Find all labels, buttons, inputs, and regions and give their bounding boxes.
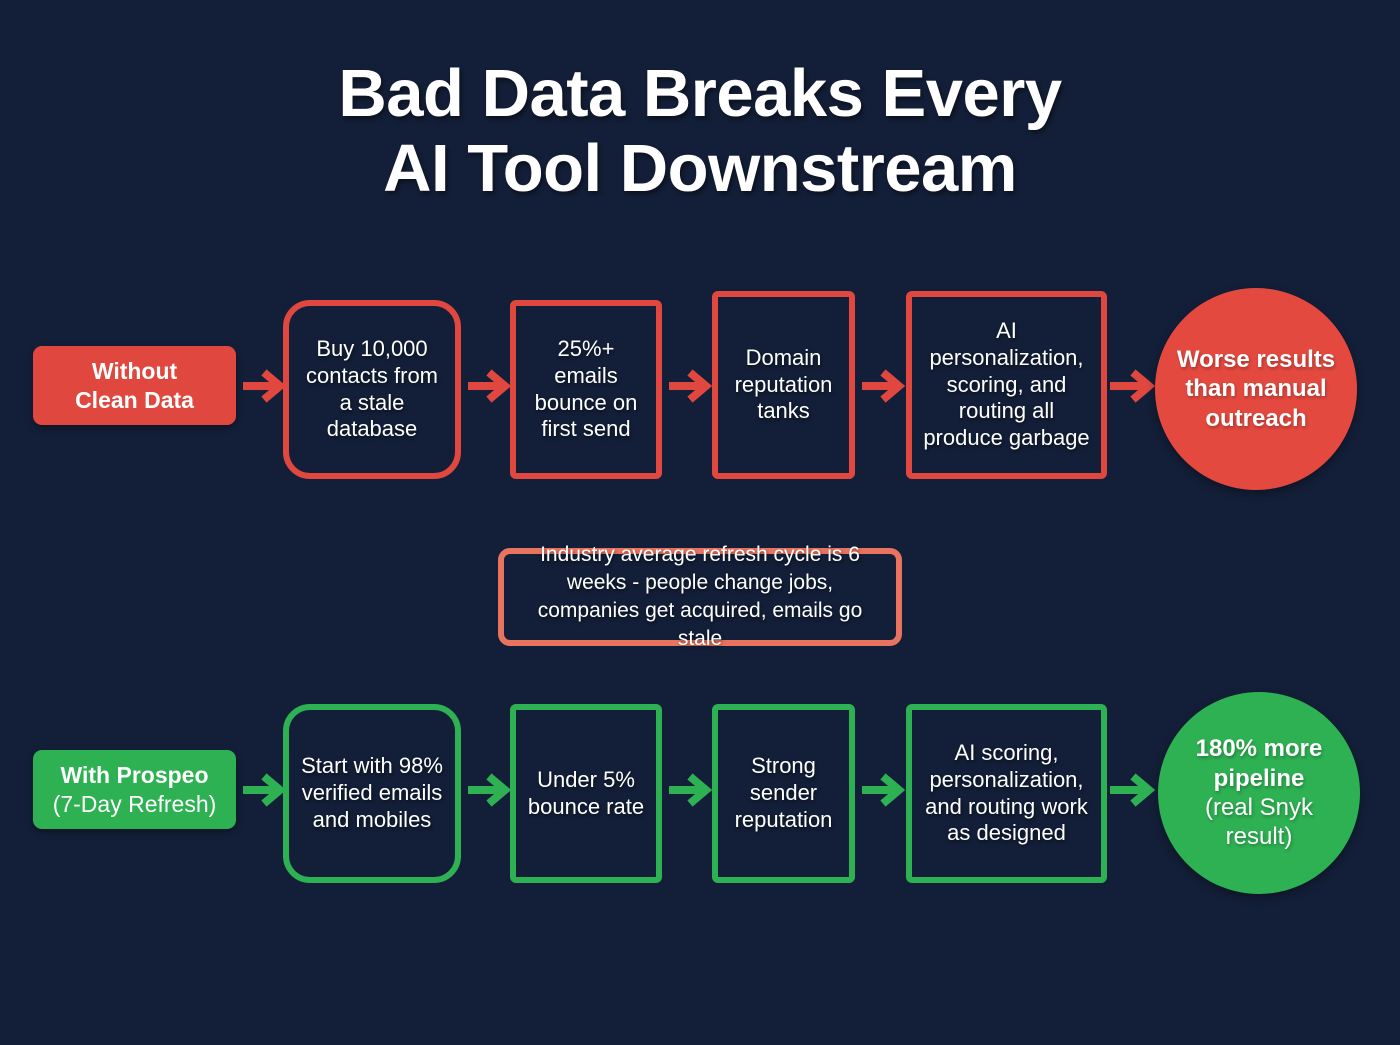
title-line-1: Bad Data Breaks Every [0,56,1400,131]
good-row-label: With Prospeo (7-Day Refresh) [33,750,236,829]
bad-step-1: Buy 10,000 contacts from a stale databas… [283,300,461,479]
bad-step-4-text: AI personalization, scoring, and routing… [921,318,1092,452]
good-step-2: Under 5% bounce rate [510,704,662,883]
page-title: Bad Data Breaks Every AI Tool Downstream [0,56,1400,206]
arrow-right-icon [862,774,906,806]
arrow-right-icon [243,774,287,806]
good-row-result: 180% more pipeline (real Snyk result) [1158,692,1360,894]
good-row-result-main: 180% more pipeline [1172,734,1346,793]
arrow-right-icon [669,774,713,806]
arrow-right-icon [862,370,906,402]
bad-row-result-text: Worse results than manual outreach [1169,345,1343,433]
bad-row-result: Worse results than manual outreach [1155,288,1357,490]
bad-step-2: 25%+ emails bounce on first send [510,300,662,479]
bad-step-3-text: Domain reputation tanks [727,345,840,425]
bad-row-label: Without Clean Data [33,346,236,425]
bad-step-1-text: Buy 10,000 contacts from a stale databas… [298,336,446,443]
bad-row-label-sub: Clean Data [75,386,194,414]
good-row-label-main: With Prospeo [60,761,208,789]
good-step-3-text: Strong sender reputation [727,753,840,833]
good-step-2-text: Under 5% bounce rate [525,767,647,821]
good-step-4: AI scoring, personalization, and routing… [906,704,1107,883]
bad-step-4: AI personalization, scoring, and routing… [906,291,1107,479]
bad-row-label-main: Without [92,357,177,385]
good-step-1-text: Start with 98% verified emails and mobil… [298,753,446,833]
arrow-right-icon [1110,774,1156,806]
arrow-right-icon [669,370,713,402]
arrow-right-icon [468,370,512,402]
arrow-right-icon [468,774,512,806]
good-row-result-sub: (real Snyk result) [1172,793,1346,852]
good-step-1: Start with 98% verified emails and mobil… [283,704,461,883]
good-row-label-sub: (7-Day Refresh) [53,790,217,818]
refresh-cycle-callout-text: Industry average refresh cycle is 6 week… [516,541,884,653]
good-step-4-text: AI scoring, personalization, and routing… [921,740,1092,847]
bad-step-3: Domain reputation tanks [712,291,855,479]
arrow-right-icon [243,370,287,402]
infographic-canvas: Bad Data Breaks Every AI Tool Downstream… [0,0,1400,1045]
arrow-right-icon [1110,370,1156,402]
refresh-cycle-callout: Industry average refresh cycle is 6 week… [498,548,902,646]
title-line-2: AI Tool Downstream [0,131,1400,206]
good-step-3: Strong sender reputation [712,704,855,883]
bad-step-2-text: 25%+ emails bounce on first send [525,336,647,443]
